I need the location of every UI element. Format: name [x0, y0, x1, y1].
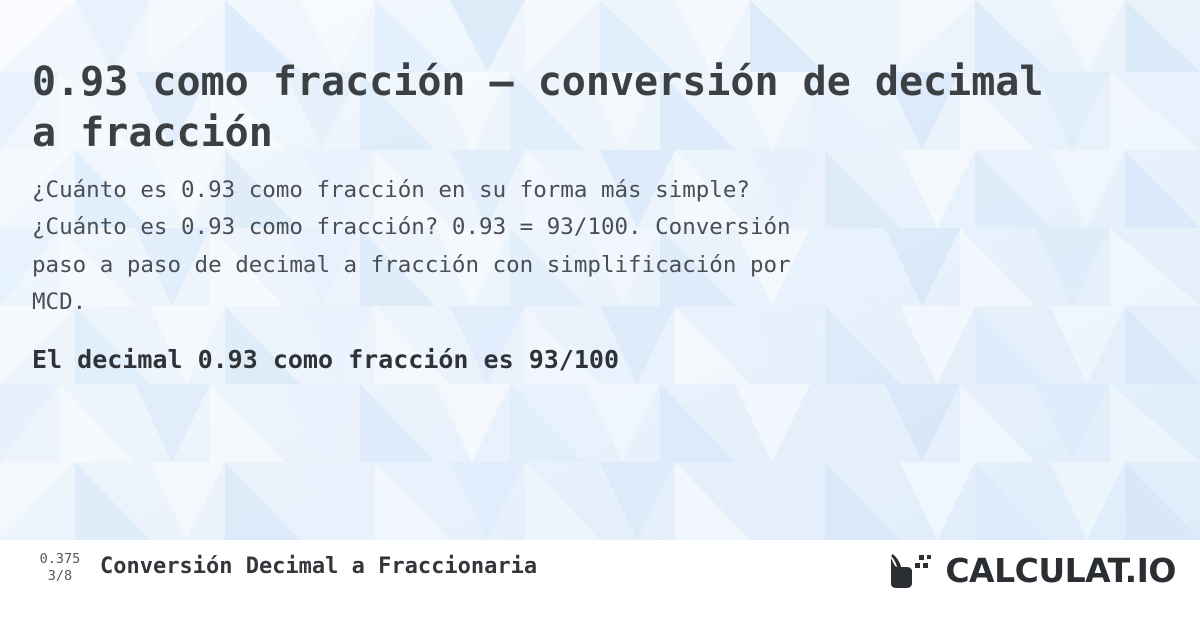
answer-statement: El decimal 0.93 como fracción es 93/100	[32, 345, 619, 374]
intro-line: ¿Cuánto es 0.93 como fracción? 0.93 = 93…	[32, 209, 1098, 246]
intro-paragraph: ¿Cuánto es 0.93 como fracción en su form…	[32, 172, 1098, 321]
brand-name: CALCULAT.IO	[945, 551, 1176, 590]
fraction-example: 0.375 3/8	[30, 551, 90, 584]
intro-line: MCD.	[32, 284, 1098, 321]
footer-section-title: Conversión Decimal a Fraccionaria	[100, 554, 537, 579]
calculator-hand-icon	[887, 550, 939, 590]
fraction-value: 3/8	[30, 568, 90, 585]
fraction-decimal: 0.375	[30, 551, 90, 568]
page-title: 0.93 como fracción – conversión de decim…	[32, 57, 1072, 159]
intro-line: paso a paso de decimal a fracción con si…	[32, 247, 1098, 284]
intro-line: ¿Cuánto es 0.93 como fracción en su form…	[32, 172, 1098, 209]
footer-bar: 0.375 3/8 Conversión Decimal a Fracciona…	[0, 540, 1200, 630]
poster-content: 0.93 como fracción – conversión de decim…	[0, 0, 1200, 630]
brand-logo[interactable]: CALCULAT.IO	[887, 550, 1176, 590]
